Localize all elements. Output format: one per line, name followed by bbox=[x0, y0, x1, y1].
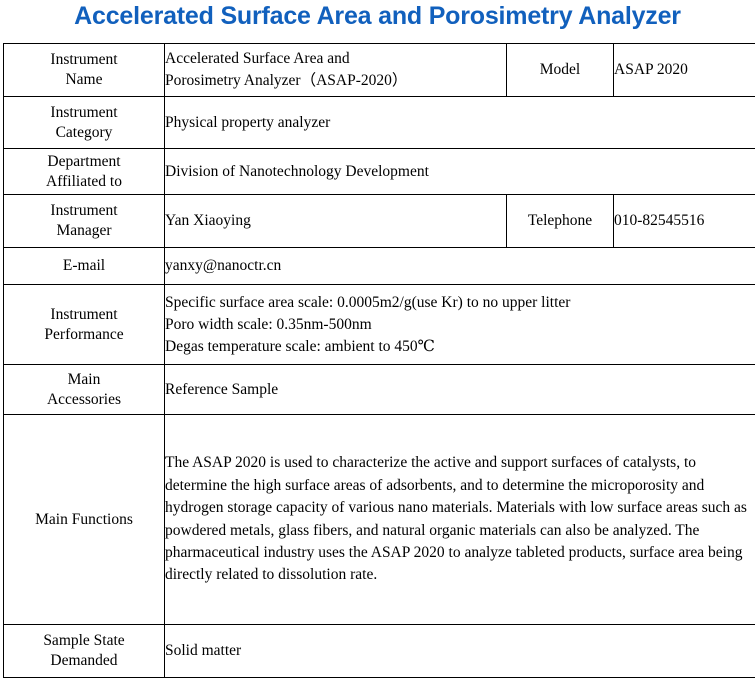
row-label-instrument-manager: Instrument Manager bbox=[4, 195, 165, 248]
label-line-1: Instrument bbox=[4, 305, 164, 325]
performance-line-2: Poro width scale: 0.35nm-500nm bbox=[165, 314, 755, 336]
cell-instrument-performance-value: Specific surface area scale: 0.0005m2/g(… bbox=[165, 285, 755, 365]
row-label-sample-state-demanded: Sample State Demanded bbox=[4, 625, 165, 678]
label-line-2: Category bbox=[4, 123, 164, 143]
table-row-department-affiliated-to: Department Affiliated to Division of Nan… bbox=[4, 149, 755, 195]
label-line-2: Demanded bbox=[4, 651, 164, 671]
page-title: Accelerated Surface Area and Porosimetry… bbox=[0, 2, 755, 31]
label-line-1: Main bbox=[4, 370, 164, 390]
cell-main-accessories-value: Reference Sample bbox=[165, 365, 755, 415]
label-line-1: Instrument bbox=[4, 50, 164, 70]
instrument-spec-table: Instrument Name Accelerated Surface Area… bbox=[3, 43, 755, 678]
table-row-instrument-manager: Instrument Manager Yan Xiaoying Telephon… bbox=[4, 195, 755, 248]
table-row-email: E-mail yanxy@nanoctr.cn bbox=[4, 248, 755, 285]
row-label-telephone: Telephone bbox=[507, 195, 614, 248]
performance-line-3: Degas temperature scale: ambient to 450℃ bbox=[165, 336, 755, 358]
cell-sample-state-demanded-value: Solid matter bbox=[165, 625, 755, 678]
label-line-2: Name bbox=[4, 70, 164, 90]
row-label-main-accessories: Main Accessories bbox=[4, 365, 165, 415]
label-line-1: Department bbox=[4, 152, 164, 172]
cell-instrument-category-value: Physical property analyzer bbox=[165, 97, 755, 149]
document-page: Accelerated Surface Area and Porosimetry… bbox=[0, 0, 755, 686]
cell-model-value: ASAP 2020 bbox=[614, 44, 755, 97]
table-row-instrument-category: Instrument Category Physical property an… bbox=[4, 97, 755, 149]
row-label-instrument-category: Instrument Category bbox=[4, 97, 165, 149]
cell-main-functions-value: The ASAP 2020 is used to characterize th… bbox=[165, 415, 755, 625]
label-line-1: Instrument bbox=[4, 103, 164, 123]
value-line-2: Porosimetry Analyzer（ASAP-2020） bbox=[165, 70, 506, 92]
label-line-2: Performance bbox=[4, 325, 164, 345]
row-label-email: E-mail bbox=[4, 248, 165, 285]
cell-instrument-name-value: Accelerated Surface Area and Porosimetry… bbox=[165, 44, 507, 97]
table-row-instrument-performance: Instrument Performance Specific surface … bbox=[4, 285, 755, 365]
table-row-instrument-name: Instrument Name Accelerated Surface Area… bbox=[4, 44, 755, 97]
cell-instrument-manager-value: Yan Xiaoying bbox=[165, 195, 507, 248]
cell-department-affiliated-to-value: Division of Nanotechnology Development bbox=[165, 149, 755, 195]
table-row-main-accessories: Main Accessories Reference Sample bbox=[4, 365, 755, 415]
row-label-main-functions: Main Functions bbox=[4, 415, 165, 625]
row-label-department-affiliated-to: Department Affiliated to bbox=[4, 149, 165, 195]
label-line-1: Sample State bbox=[4, 631, 164, 651]
table-row-sample-state-demanded: Sample State Demanded Solid matter bbox=[4, 625, 755, 678]
cell-telephone-value: 010-82545516 bbox=[614, 195, 755, 248]
performance-line-1: Specific surface area scale: 0.0005m2/g(… bbox=[165, 292, 755, 314]
row-label-model: Model bbox=[507, 44, 614, 97]
label-line-2: Manager bbox=[4, 221, 164, 241]
row-label-instrument-name: Instrument Name bbox=[4, 44, 165, 97]
label-line-1: Instrument bbox=[4, 201, 164, 221]
label-line-2: Affiliated to bbox=[4, 172, 164, 192]
table-row-main-functions: Main Functions The ASAP 2020 is used to … bbox=[4, 415, 755, 625]
row-label-instrument-performance: Instrument Performance bbox=[4, 285, 165, 365]
value-line-1: Accelerated Surface Area and bbox=[165, 48, 506, 70]
label-line-2: Accessories bbox=[4, 390, 164, 410]
cell-email-value: yanxy@nanoctr.cn bbox=[165, 248, 755, 285]
